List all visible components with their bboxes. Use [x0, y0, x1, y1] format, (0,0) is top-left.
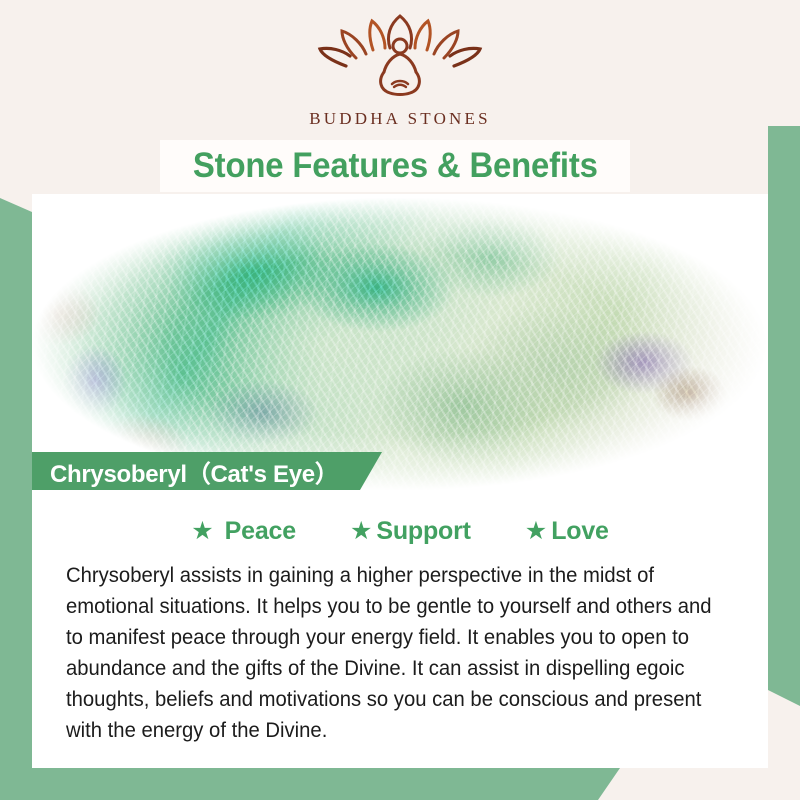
stone-name-banner: Chrysoberyl（Cat's Eye）: [32, 452, 382, 490]
star-icon: ★: [191, 519, 213, 544]
benefit-label: Support: [376, 517, 470, 546]
benefit-item-love: ★ Love: [525, 517, 609, 546]
decorative-border-left: [0, 198, 32, 800]
benefit-item-peace: ★ Peace: [191, 517, 296, 546]
description-paragraph: Chrysoberyl assists in gaining a higher …: [66, 560, 714, 746]
benefit-item-support: ★ Support: [350, 517, 471, 546]
star-icon: ★: [350, 519, 372, 544]
stone-texture-overlay: [32, 194, 768, 494]
brand-name: BUDDHA STONES: [309, 109, 491, 129]
lotus-meditation-figure-icon: [316, 14, 484, 105]
benefits-row: ★ Peace ★ Support ★ Love: [32, 510, 768, 552]
benefit-label: Love: [551, 517, 609, 546]
decorative-border-bottom: [0, 768, 620, 800]
content-card: Chrysoberyl（Cat's Eye） ★ Peace ★ Support…: [32, 194, 768, 768]
page-title: Stone Features & Benefits: [193, 146, 598, 186]
brand-header: BUDDHA STONES: [0, 0, 800, 150]
stone-name-label: Chrysoberyl（Cat's Eye）: [32, 454, 339, 489]
stone-photo: [32, 194, 768, 494]
section-title-banner: Stone Features & Benefits: [160, 140, 630, 192]
stone-photo-image: [32, 194, 768, 494]
star-icon: ★: [525, 519, 547, 544]
infographic-page: BUDDHA STONES Chrysoberyl（Cat's Eye） ★ P…: [0, 0, 800, 800]
decorative-border-right: [768, 126, 800, 706]
benefit-label: Peace: [225, 517, 296, 546]
